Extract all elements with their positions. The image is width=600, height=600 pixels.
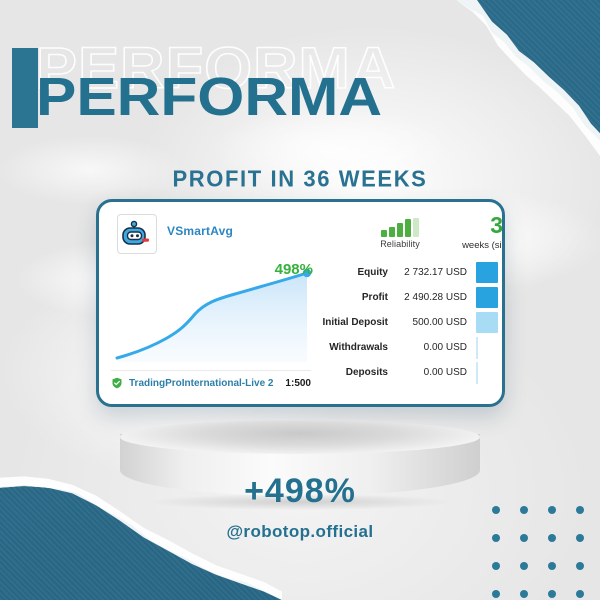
dot (492, 590, 500, 598)
dot (548, 506, 556, 514)
dot (492, 506, 500, 514)
verified-shield-icon (111, 377, 123, 389)
bot-name-label: VSmartAvg (167, 224, 233, 238)
account-name: TradingProInternational-Live 2 (129, 378, 273, 389)
stat-bar-cell (467, 335, 503, 360)
stat-bar-cell (467, 260, 503, 285)
stat-label: Withdrawals (313, 342, 395, 353)
dot (492, 562, 500, 570)
table-row: Withdrawals 0.00 USD (313, 335, 503, 360)
section-title: PROFIT IN 36 WEEKS (0, 165, 600, 192)
stat-value: 2 732.17 USD (395, 267, 467, 278)
performance-card: VSmartAvg Reliability 36 weeks (since 20… (96, 199, 505, 407)
stat-bar-cell (467, 360, 503, 385)
stat-value: 500.00 USD (395, 317, 467, 328)
stat-bar-cell (467, 285, 503, 310)
stat-bar-cell (467, 310, 503, 335)
stat-label: Profit (313, 292, 395, 303)
dot (548, 590, 556, 598)
account-leverage: 1:500 (285, 378, 311, 389)
stat-value: 2 490.28 USD (395, 292, 467, 303)
weeks-block: 36 weeks (since 2023) (443, 214, 505, 251)
stat-value: 0.00 USD (395, 367, 467, 378)
stat-bar (476, 337, 478, 359)
podium-top (120, 420, 480, 454)
stat-bar (476, 262, 498, 283)
page-title: PERFORMA (36, 66, 382, 128)
robot-avatar-icon (117, 214, 157, 254)
chart-percent-label: 498% (275, 261, 313, 278)
stat-bar (476, 287, 498, 308)
dot (576, 590, 584, 598)
dot (520, 562, 528, 570)
dot (576, 534, 584, 542)
stat-label: Equity (313, 267, 395, 278)
table-row: Deposits 0.00 USD (313, 360, 503, 385)
reliability-bars (361, 218, 439, 237)
dot (548, 562, 556, 570)
dot (520, 534, 528, 542)
stat-label: Deposits (313, 367, 395, 378)
reliability-label: Reliability (361, 239, 439, 249)
reliability-indicator: Reliability (361, 218, 439, 249)
dot-grid-decoration (492, 506, 600, 600)
stat-bar (476, 312, 498, 333)
dot (576, 562, 584, 570)
growth-chart: 498% (109, 258, 319, 368)
infographic-canvas: PERFORMA PERFORMA PROFIT IN 36 WEEKS VSm… (0, 0, 600, 600)
accent-bar (12, 48, 38, 128)
stat-value: 0.00 USD (395, 342, 467, 353)
dot (520, 506, 528, 514)
stat-bar (476, 362, 478, 384)
dot (520, 590, 528, 598)
table-row: Equity 2 732.17 USD (313, 260, 503, 285)
table-row: Profit 2 490.28 USD (313, 285, 503, 310)
table-row: Initial Deposit 500.00 USD (313, 310, 503, 335)
stats-table: Equity 2 732.17 USD Profit 2 490.28 USD … (313, 260, 503, 385)
weeks-number: 36 (443, 214, 505, 237)
dot (548, 534, 556, 542)
dot (576, 506, 584, 514)
dot (492, 534, 500, 542)
stat-label: Initial Deposit (313, 317, 395, 328)
weeks-subtitle: weeks (since 2023) (443, 240, 505, 251)
account-row: TradingProInternational-Live 2 1:500 (111, 370, 311, 392)
